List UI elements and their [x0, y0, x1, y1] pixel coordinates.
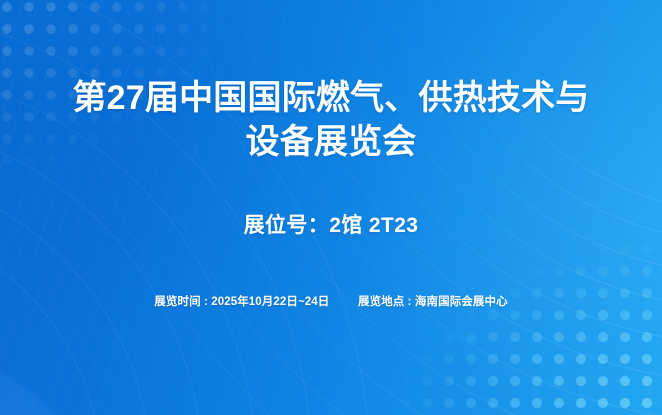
event-info-line: 展览时间 : 2025年10月22日~24日 展览地点 : 海南国际会展中心	[154, 293, 507, 309]
banner-title-line-2: 设备展览会	[26, 120, 636, 164]
booth-number-label: 展位号：2馆 2T23	[244, 209, 419, 239]
banner-title: 第27届中国国际燃气、供热技术与 设备展览会	[0, 76, 662, 164]
banner-content: 第27届中国国际燃气、供热技术与 设备展览会 展位号：2馆 2T23 展览时间 …	[0, 0, 662, 415]
exhibition-place-text: 展览地点 : 海南国际会展中心	[358, 296, 508, 308]
exhibition-time-text: 展览时间 : 2025年10月22日~24日	[154, 296, 329, 308]
banner-title-line-1: 第27届中国国际燃气、供热技术与	[26, 76, 636, 120]
exhibition-banner: 第27届中国国际燃气、供热技术与 设备展览会 展位号：2馆 2T23 展览时间 …	[0, 0, 662, 415]
